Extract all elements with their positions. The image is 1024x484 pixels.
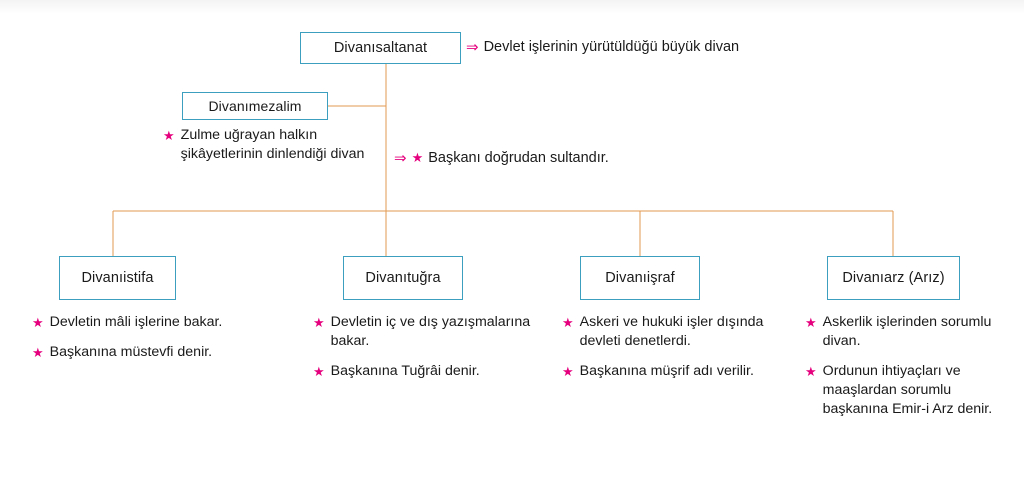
star-bullet-icon: ★ xyxy=(412,150,424,166)
org-chart-diagram: Divanısaltanat ⇒ Devlet işlerinin yürütü… xyxy=(0,0,1024,484)
double-arrow-icon: ⇒ xyxy=(466,39,479,56)
list-item: ★ Başkanına Tuğrâi denir. xyxy=(313,362,538,381)
star-bullet-icon: ★ xyxy=(313,315,325,331)
node-divanimezalim[interactable]: Divanımezalim xyxy=(182,92,328,120)
node-label: Divanımezalim xyxy=(208,98,301,114)
root-note: ⇒ Devlet işlerinin yürütüldüğü büyük div… xyxy=(466,39,739,56)
list-item: ★ Başkanına müşrif adı verilir. xyxy=(562,362,802,381)
star-bullet-icon: ★ xyxy=(562,315,574,331)
star-bullet-icon: ★ xyxy=(32,315,44,331)
list-item: ★ Zulme uğrayan halkın şikâyetlerinin di… xyxy=(163,126,378,164)
divanimezalim-bullet-list: ★ Zulme uğrayan halkın şikâyetlerinin di… xyxy=(163,126,378,175)
trunk-note: ⇒ ★ Başkanı doğrudan sultandır. xyxy=(394,150,609,167)
list-item-text: Başkanına Tuğrâi denir. xyxy=(331,362,480,381)
list-item: ★ Devletin mâli işlerine bakar. xyxy=(32,313,247,332)
node-divanitugra[interactable]: Divanıtuğra xyxy=(343,256,463,300)
node-divaniistifa[interactable]: Divanıistifa xyxy=(59,256,176,300)
node-label: Divanıtuğra xyxy=(365,270,440,286)
list-item-text: Askeri ve hukuki işler dışında devleti d… xyxy=(580,313,802,351)
list-item: ★ Başkanına müstevfi denir. xyxy=(32,343,247,362)
list-item-text: Zulme uğrayan halkın şikâyetlerinin dinl… xyxy=(181,126,378,164)
double-arrow-icon: ⇒ xyxy=(394,150,407,167)
list-item-text: Devletin iç ve dış yazışmalarına bakar. xyxy=(331,313,538,351)
node-label: Divanısaltanat xyxy=(334,40,427,56)
list-item: ★ Askeri ve hukuki işler dışında devleti… xyxy=(562,313,802,351)
node-divaniisraf[interactable]: Divanıişraf xyxy=(580,256,700,300)
star-bullet-icon: ★ xyxy=(32,345,44,361)
divanitugra-bullet-list: ★ Devletin iç ve dış yazışmalarına bakar… xyxy=(313,313,538,392)
node-divaniarz[interactable]: Divanıarz (Arız) xyxy=(827,256,960,300)
list-item-text: Devletin mâli işlerine bakar. xyxy=(50,313,223,332)
divaniarz-bullet-list: ★ Askerlik işlerinden sorumlu divan. ★ O… xyxy=(805,313,1005,430)
root-note-text: Devlet işlerinin yürütüldüğü büyük divan xyxy=(484,39,740,55)
star-bullet-icon: ★ xyxy=(163,128,175,144)
list-item-text: Askerlik işlerinden sorumlu divan. xyxy=(823,313,1005,351)
star-bullet-icon: ★ xyxy=(562,364,574,380)
divaniistifa-bullet-list: ★ Devletin mâli işlerine bakar. ★ Başkan… xyxy=(32,313,247,373)
list-item-text: Başkanına müstevfi denir. xyxy=(50,343,212,362)
list-item-text: Başkanına müşrif adı verilir. xyxy=(580,362,754,381)
list-item: ★ Devletin iç ve dış yazışmalarına bakar… xyxy=(313,313,538,351)
node-label: Divanıarz (Arız) xyxy=(842,270,944,286)
trunk-note-text: Başkanı doğrudan sultandır. xyxy=(428,150,609,166)
list-item: ★ Ordunun ihtiyaçları ve maaşlardan soru… xyxy=(805,362,1005,419)
list-item-text: Ordunun ihtiyaçları ve maaşlardan soruml… xyxy=(823,362,1005,419)
list-item: ★ Askerlik işlerinden sorumlu divan. xyxy=(805,313,1005,351)
star-bullet-icon: ★ xyxy=(313,364,325,380)
node-label: Divanıistifa xyxy=(81,270,153,286)
node-label: Divanıişraf xyxy=(605,270,675,286)
divaniisraf-bullet-list: ★ Askeri ve hukuki işler dışında devleti… xyxy=(562,313,802,392)
node-divanisaltanat[interactable]: Divanısaltanat xyxy=(300,32,461,64)
star-bullet-icon: ★ xyxy=(805,315,817,331)
star-bullet-icon: ★ xyxy=(805,364,817,380)
